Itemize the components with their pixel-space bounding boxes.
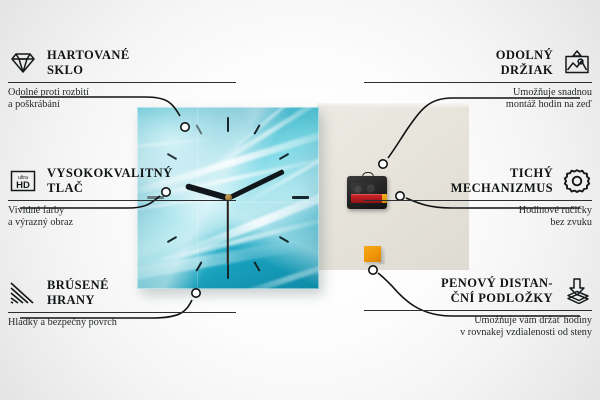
foam-spacer-icon <box>562 277 592 305</box>
feature-title-line2: ČNÍ PODLOŽKY <box>451 291 553 305</box>
feature-header: TICHÝ MECHANIZMUS <box>364 166 592 195</box>
feature-silent-mechanism: TICHÝ MECHANIZMUS Hodinové ručičky bez z… <box>364 166 592 230</box>
feature-title: TICHÝ MECHANIZMUS <box>451 166 553 195</box>
feature-desc-line1: Umožňuje snadnou <box>513 87 592 98</box>
feature-title-line2: SKLO <box>47 63 83 77</box>
product-infographic: HARTOVANÉ SKLO Odolné proti rozbití a po… <box>0 0 600 400</box>
feature-title-line1: BRÚSENÉ <box>47 278 109 292</box>
diamond-icon <box>8 49 38 77</box>
ultra-hd-icon: ultra HD <box>8 167 38 195</box>
wall-hanger-icon <box>562 49 592 77</box>
feature-divider <box>8 200 236 201</box>
feature-title-line1: VYSOKOKVALITNÝ <box>47 166 173 180</box>
feature-desc-line2: montáž hodin na zeď <box>506 99 592 110</box>
feature-title: VYSOKOKVALITNÝ TLAČ <box>47 166 173 195</box>
feature-title: HARTOVANÉ SKLO <box>47 48 130 77</box>
feature-desc-line1: Umožňuje vám držať hodiny <box>474 315 592 326</box>
feature-desc-line1: Hodinové ručičky <box>519 205 592 216</box>
feature-title: ODOLNÝ DRŽIAK <box>496 48 553 77</box>
feature-divider <box>364 200 592 201</box>
feature-title: BRÚSENÉ HRANY <box>47 278 109 307</box>
feature-title-line2: DRŽIAK <box>501 63 553 77</box>
feature-header: PENOVÝ DISTAN- ČNÍ PODLOŽKY <box>364 276 592 305</box>
feature-title-line1: PENOVÝ DISTAN- <box>441 276 553 290</box>
feature-high-quality-print: ultra HD VYSOKOKVALITNÝ TLAČ Vividné far… <box>8 166 236 230</box>
feature-header: ultra HD VYSOKOKVALITNÝ TLAČ <box>8 166 236 195</box>
feature-polished-edges: BRÚSENÉ HRANY Hladký a bezpečný povrch <box>8 278 236 329</box>
feature-header: ODOLNÝ DRŽIAK <box>364 48 592 77</box>
feature-divider <box>8 82 236 83</box>
feature-desc-line2: a výrazný obraz <box>8 217 73 228</box>
feature-title-line1: ODOLNÝ <box>496 48 553 62</box>
feature-tempered-glass: HARTOVANÉ SKLO Odolné proti rozbití a po… <box>8 48 236 112</box>
feature-description: Umožňuje snadnou montáž hodin na zeď <box>364 87 592 112</box>
gear-icon <box>562 167 592 195</box>
feature-divider <box>8 312 236 313</box>
feature-title-line2: TLAČ <box>47 181 83 195</box>
feature-title-line1: HARTOVANÉ <box>47 48 130 62</box>
ultra-hd-icon-large-text: HD <box>16 180 30 191</box>
feature-header: BRÚSENÉ HRANY <box>8 278 236 307</box>
feature-durable-hanger: ODOLNÝ DRŽIAK Umožňuje snadnou montáž ho… <box>364 48 592 112</box>
feature-desc-line2: a poškrábání <box>8 99 60 110</box>
feature-header: HARTOVANÉ SKLO <box>8 48 236 77</box>
feature-description: Hladký a bezpečný povrch <box>8 317 236 329</box>
feature-divider <box>364 310 592 311</box>
feature-desc-line1: Hladký a bezpečný povrch <box>8 317 117 328</box>
feature-divider <box>364 82 592 83</box>
feature-description: Odolné proti rozbití a poškrábání <box>8 87 236 112</box>
feature-foam-spacers: PENOVÝ DISTAN- ČNÍ PODLOŽKY Umožňuje vám… <box>364 276 592 340</box>
feature-desc-line1: Odolné proti rozbití <box>8 87 89 98</box>
feature-description: Umožňuje vám držať hodiny v rovnakej vzd… <box>364 315 592 340</box>
feature-title-line2: MECHANIZMUS <box>451 181 553 195</box>
feature-desc-line1: Vividné farby <box>8 205 64 216</box>
feature-description: Vividné farby a výrazný obraz <box>8 205 236 230</box>
feature-title-line1: TICHÝ <box>510 166 553 180</box>
feature-desc-line2: v rovnakej vzdialenosti od steny <box>460 327 592 338</box>
beveled-edges-icon <box>8 279 38 307</box>
feature-title-line2: HRANY <box>47 293 95 307</box>
feature-desc-line2: bez zvuku <box>550 217 592 228</box>
feature-description: Hodinové ručičky bez zvuku <box>364 205 592 230</box>
feature-title: PENOVÝ DISTAN- ČNÍ PODLOŽKY <box>441 276 553 305</box>
